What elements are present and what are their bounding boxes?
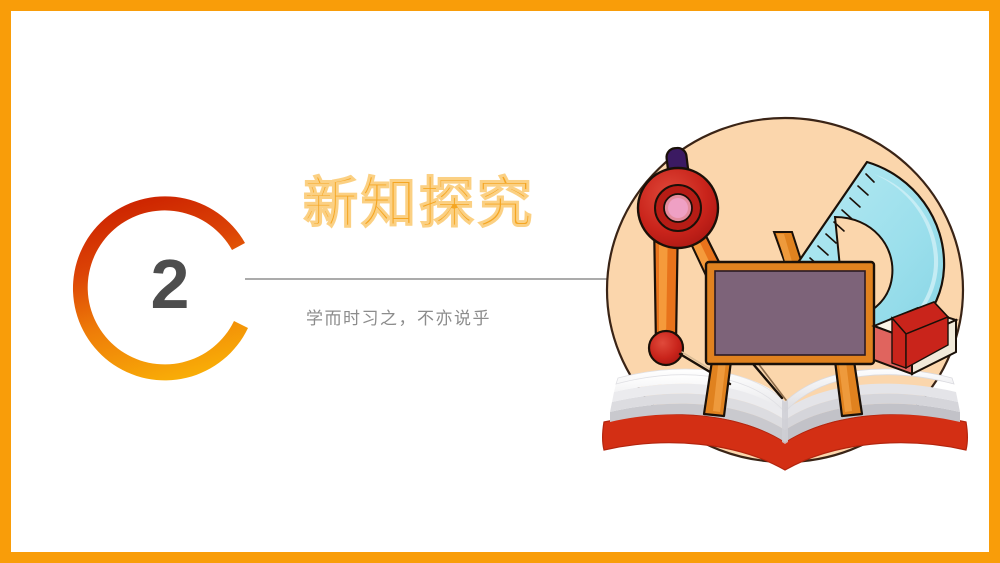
slide-border-top bbox=[0, 0, 1000, 11]
slide-border-bottom bbox=[0, 552, 1000, 563]
slide-border-right bbox=[989, 0, 1000, 563]
page-subtitle: 学而时习之，不亦说乎 bbox=[306, 304, 491, 329]
heading-divider-line bbox=[245, 278, 607, 280]
page-title: 新知探究 bbox=[303, 175, 623, 233]
section-number: 2 bbox=[62, 178, 274, 390]
heading-block: 新知探究 学而时习之，不亦说乎 bbox=[303, 175, 623, 233]
slide-border-left bbox=[0, 0, 11, 563]
section-number-badge: 2 bbox=[62, 178, 274, 390]
slide-canvas: 2 新知探究 学而时习之，不亦说乎 bbox=[0, 0, 1000, 563]
blackboard-icon bbox=[706, 262, 874, 364]
study-tools-illustration bbox=[596, 112, 976, 492]
